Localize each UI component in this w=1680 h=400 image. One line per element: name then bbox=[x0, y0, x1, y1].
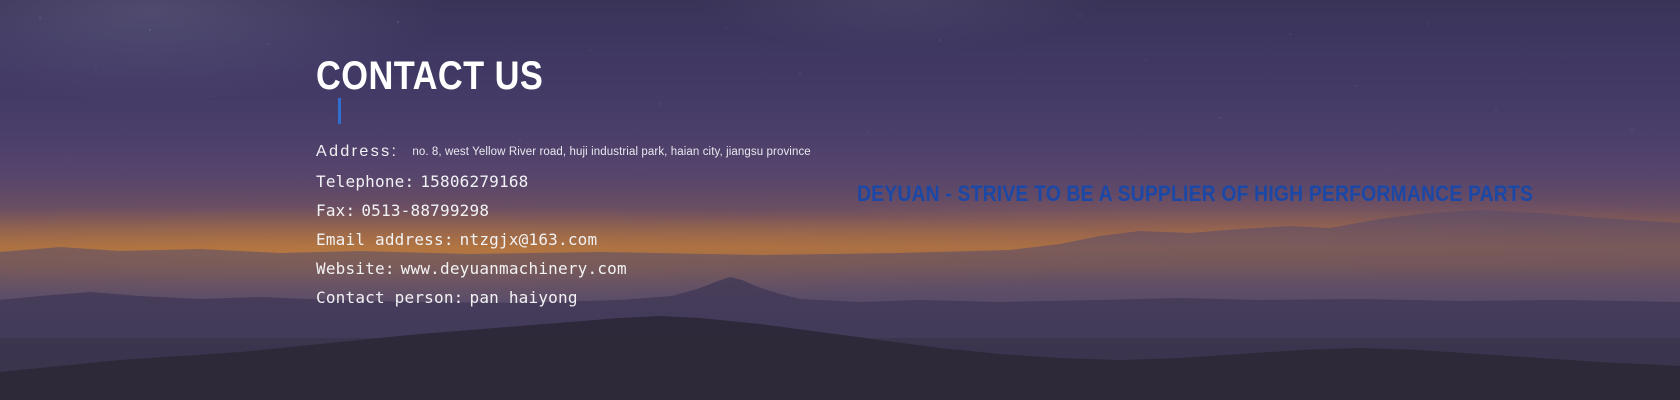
contact-label-website: Website: bbox=[316, 259, 395, 278]
page-title: CONTACT US bbox=[316, 56, 543, 96]
contact-label-email: Email address: bbox=[316, 230, 454, 249]
contact-banner: CONTACT US Address: no. 8, west Yellow R… bbox=[0, 0, 1680, 400]
contact-row-address: Address: no. 8, west Yellow River road, … bbox=[316, 143, 1096, 172]
contact-value-telephone[interactable]: 15806279168 bbox=[420, 172, 528, 191]
banner-content: CONTACT US Address: no. 8, west Yellow R… bbox=[0, 0, 1680, 400]
contact-value-contact-person: pan haiyong bbox=[470, 288, 578, 307]
contact-value-fax: 0513-88799298 bbox=[361, 201, 489, 220]
title-accent-bar bbox=[338, 98, 341, 124]
contact-row-email: Email address: ntzgjx@163.com bbox=[316, 230, 1096, 259]
contact-label-fax: Fax: bbox=[316, 201, 355, 220]
contact-value-email[interactable]: ntzgjx@163.com bbox=[460, 230, 598, 249]
company-tagline: DEYUAN - STRIVE TO BE A SUPPLIER OF HIGH… bbox=[857, 183, 1533, 205]
contact-label-address: Address: bbox=[316, 143, 398, 161]
contact-row-website: Website: www.deyuanmachinery.com bbox=[316, 259, 1096, 288]
contact-details-list: Address: no. 8, west Yellow River road, … bbox=[316, 143, 1096, 317]
contact-row-contact-person: Contact person: pan haiyong bbox=[316, 288, 1096, 317]
contact-label-contact-person: Contact person: bbox=[316, 288, 464, 307]
contact-value-website[interactable]: www.deyuanmachinery.com bbox=[401, 259, 627, 278]
contact-label-telephone: Telephone: bbox=[316, 172, 414, 191]
contact-value-address: no. 8, west Yellow River road, huji indu… bbox=[412, 146, 810, 158]
